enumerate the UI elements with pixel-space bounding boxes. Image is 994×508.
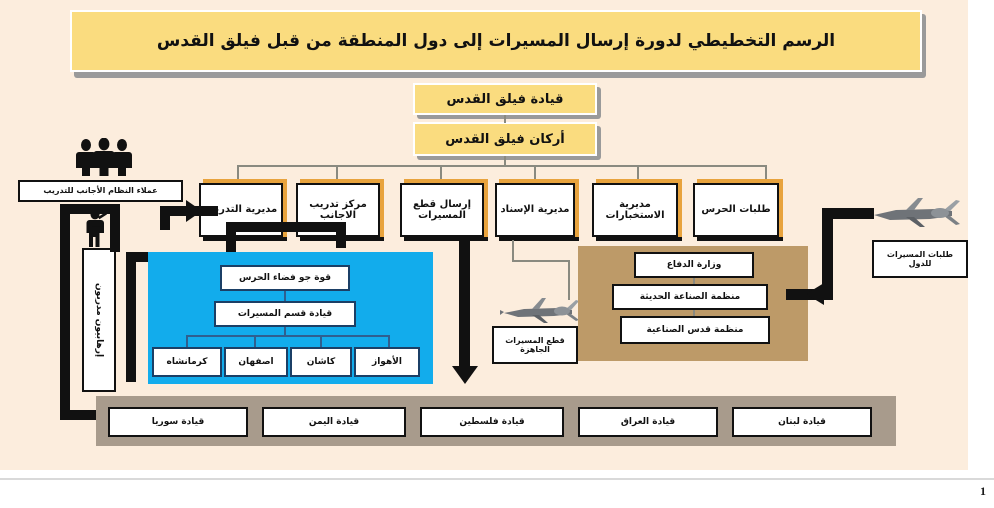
ready-drone-parts-box[interactable]: قطع المسيرات الجاهزة [492,326,578,364]
department-base-3 [404,237,488,241]
armed-soldier-icon [84,208,110,248]
country-command-box-yemen[interactable]: قيادة اليمن [262,407,406,437]
country-drone-requests-box[interactable]: طلبات المسيرات للدول [872,240,968,278]
site-box-isfahan[interactable]: اصفهان [224,347,288,377]
qods-industrial-organization-box[interactable]: منظمة قدس الصناعية [620,316,770,344]
country-command-box-syria[interactable]: قيادة سوريا [108,407,248,437]
connector-command-to-staff [504,115,506,123]
people-group-icon [74,138,136,176]
page-divider [0,478,994,480]
drone-uav-icon-right [866,196,962,230]
department-box-support-directorate[interactable]: مديرية الإسناد [495,183,575,237]
connector-site-drop-4 [388,335,390,347]
connector-guard-head-to-sub [284,291,286,301]
department-box-intelligence-directorate[interactable]: مديرية الاستخبارات [592,183,678,237]
department-base-6 [697,237,783,241]
flow-inner-left-spine [126,252,136,382]
country-command-box-lebanon[interactable]: قيادة لبنان [732,407,872,437]
flow-center-arrowhead [452,366,478,384]
flow-agents-arrowhead [186,200,202,222]
diagram-canvas: الرسم التخطيطي لدورة إرسال المسيرات إلى … [0,0,994,508]
department-base-1 [203,237,287,241]
department-box-guard-requests[interactable]: طلبات الحرس [693,183,779,237]
connector-department-bus [237,165,767,167]
trained-terrorists-box[interactable]: إرهابيون مدربون [82,248,116,392]
flow-inner-drop [336,222,346,248]
connector-sub-drop [284,327,286,335]
department-base-5 [596,237,682,241]
qods-force-staff-box: أركان فيلق القدس [413,122,597,156]
site-box-ahvaz[interactable]: الأهواز [354,347,420,377]
department-base-4 [499,237,579,241]
flow-left-spine [60,204,70,420]
connector-support-riser [568,260,570,300]
site-box-kashan[interactable]: كاشان [290,347,352,377]
drone-section-command-box[interactable]: قيادة قسم المسيرات [214,301,356,327]
connector-sites-bus [186,335,390,337]
flow-inner-top2 [226,222,346,232]
guard-aerospace-force-box[interactable]: قوة جو فضاء الحرس [220,265,350,291]
flow-center-spine [459,240,470,370]
country-command-box-palestine[interactable]: قيادة فلسطين [420,407,564,437]
qods-force-command-box: قيادة فيلق القدس [413,83,597,115]
flow-right-arrowhead [806,283,824,305]
ministry-of-defense-box[interactable]: وزارة الدفاع [634,252,754,278]
foreign-agents-for-training-box[interactable]: عملاء النظام الأجانب للتدريب [18,180,183,202]
connector-site-drop-1 [186,335,188,347]
connector-site-drop-2 [254,335,256,347]
connector-support-down [512,240,514,262]
modern-industries-organization-box[interactable]: منظمة الصناعة الحديثة [612,284,768,310]
country-command-box-iraq[interactable]: قيادة العراق [578,407,718,437]
connector-support-across [512,260,570,262]
department-box-drone-parts-dispatch[interactable]: إرسال قطع المسيرات [400,183,484,237]
connector-site-drop-3 [320,335,322,347]
page-background-margin [968,0,994,470]
drone-uav-icon-center [498,296,580,326]
site-box-kermanshah[interactable]: كرمانشاه [152,347,222,377]
page-title: الرسم التخطيطي لدورة إرسال المسيرات إلى … [70,10,922,72]
page-number: 1 [980,484,986,499]
